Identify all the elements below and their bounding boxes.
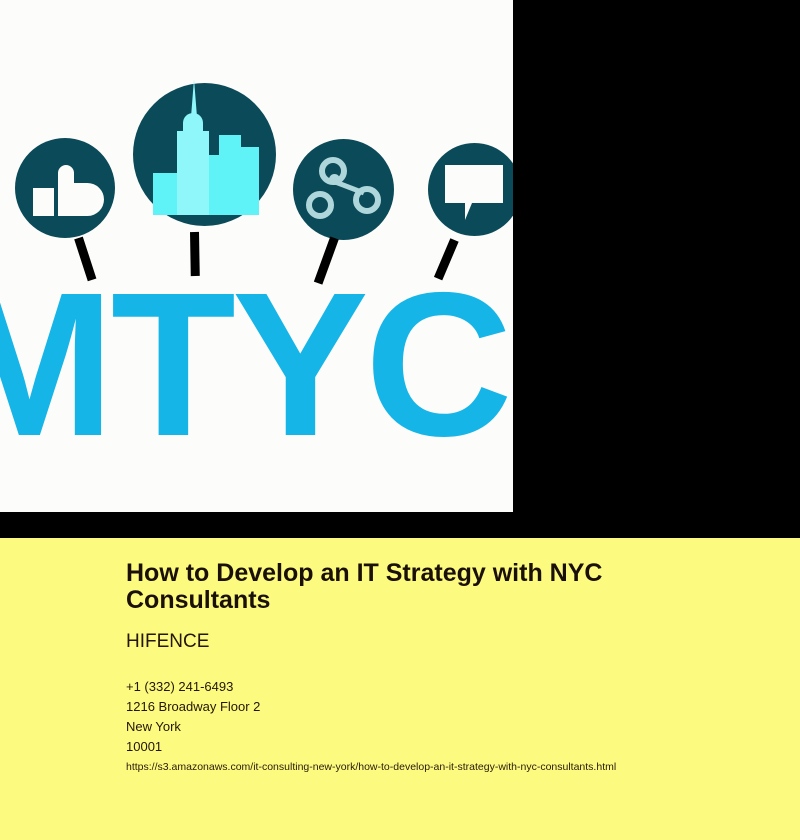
speech-bubble-tail — [465, 203, 479, 220]
speech-bubble-body — [445, 165, 503, 203]
thumbs-up-thumb-shape — [58, 165, 74, 191]
hero-thumbnail-image: MTYC — [0, 0, 513, 512]
network-node-c — [353, 186, 381, 214]
network-nodes-icon — [293, 139, 394, 240]
brand-name: HIFENCE — [126, 631, 209, 653]
network-node-b — [306, 191, 334, 219]
contact-phone: +1 (332) 241-6493 — [126, 677, 686, 697]
source-url-link[interactable]: https://s3.amazonaws.com/it-consulting-n… — [126, 760, 616, 774]
speech-bubble-icon — [428, 143, 513, 236]
page-title: How to Develop an IT Strategy with NYC C… — [126, 560, 736, 614]
thumbs-up-cuff-shape — [33, 188, 54, 216]
article-card-page: MTYC How to Develop an IT Strategy with … — [0, 0, 800, 840]
thumbs-up-icon — [15, 138, 115, 238]
hero-wordmark: MTYC — [0, 262, 513, 467]
contact-city: New York — [126, 717, 686, 737]
empire-tower-spire — [191, 79, 197, 117]
empire-tower-base — [177, 131, 209, 215]
contact-block: +1 (332) 241-6493 1216 Broadway Floor 2 … — [126, 677, 686, 757]
hero-region: MTYC — [0, 0, 800, 538]
contact-postal-code: 10001 — [126, 737, 686, 757]
info-panel: How to Develop an IT Strategy with NYC C… — [0, 538, 800, 840]
contact-street: 1216 Broadway Floor 2 — [126, 697, 686, 717]
network-hub-dot — [329, 174, 340, 185]
city-skyline-icon — [133, 83, 276, 226]
skyline-right-building — [231, 147, 259, 215]
skyline-left-building — [153, 173, 177, 215]
